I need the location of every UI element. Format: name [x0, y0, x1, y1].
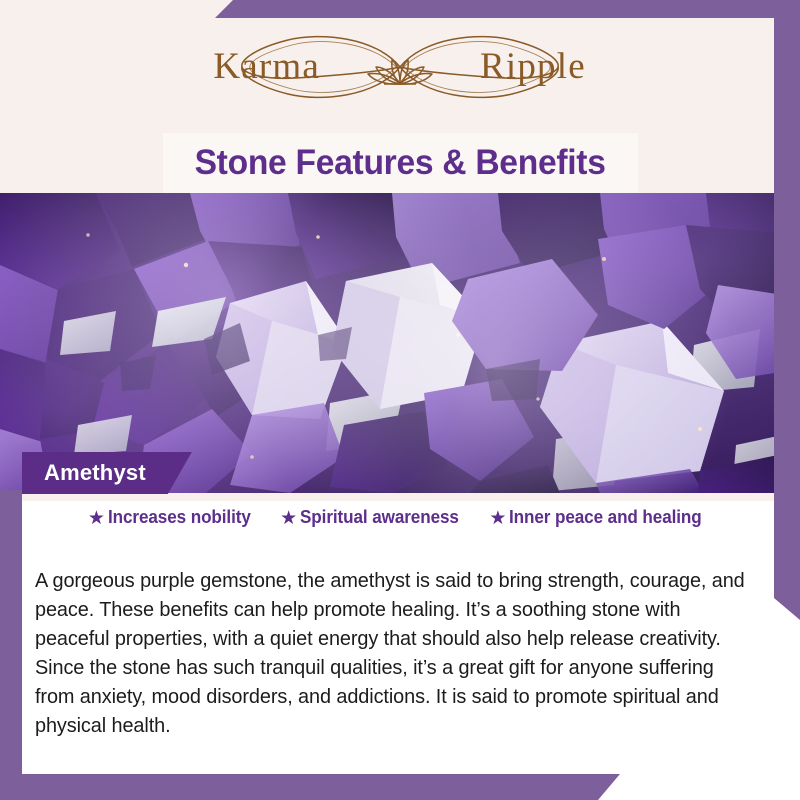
benefit-item: ★ Spiritual awareness: [280, 507, 467, 528]
card-top-strip: [22, 493, 778, 501]
star-icon: ★: [88, 509, 105, 528]
stone-name: Amethyst: [44, 460, 146, 486]
header: Karma Ripple Stone Features & Benefits: [0, 0, 800, 193]
brand-logo: Karma Ripple: [0, 28, 800, 106]
benefit-label: Increases nobility: [108, 507, 251, 528]
stone-name-banner: Amethyst: [22, 452, 192, 494]
brand-name-left: Karma: [213, 46, 320, 87]
star-icon: ★: [280, 509, 297, 528]
benefit-item: ★ Increases nobility: [88, 507, 258, 528]
frame-accent-left: [0, 490, 22, 800]
benefits-list: ★ Increases nobility ★ Spiritual awarene…: [22, 507, 778, 528]
star-icon: ★: [489, 509, 506, 528]
benefit-label: Spiritual awareness: [300, 507, 459, 528]
page-title: Stone Features & Benefits: [195, 143, 606, 183]
content-card: ★ Increases nobility ★ Spiritual awarene…: [22, 493, 778, 774]
frame-accent-bottom: [0, 774, 620, 800]
benefit-label: Inner peace and healing: [509, 507, 702, 528]
karma-ripple-logo: Karma Ripple: [170, 28, 630, 106]
amethyst-photo: [0, 193, 800, 493]
brand-name-right: Ripple: [480, 46, 586, 87]
benefit-item: ★ Inner peace and healing: [489, 507, 712, 528]
stone-description: A gorgeous purple gemstone, the amethyst…: [35, 566, 753, 740]
frame-accent-top: [215, 0, 800, 18]
page-title-plate: Stone Features & Benefits: [163, 133, 638, 193]
infographic-page: Karma Ripple Stone Features & Benefits A…: [0, 0, 800, 800]
lotus-icon: [368, 60, 432, 84]
photo-color-wash: [0, 193, 800, 493]
frame-accent-right: [774, 0, 800, 620]
